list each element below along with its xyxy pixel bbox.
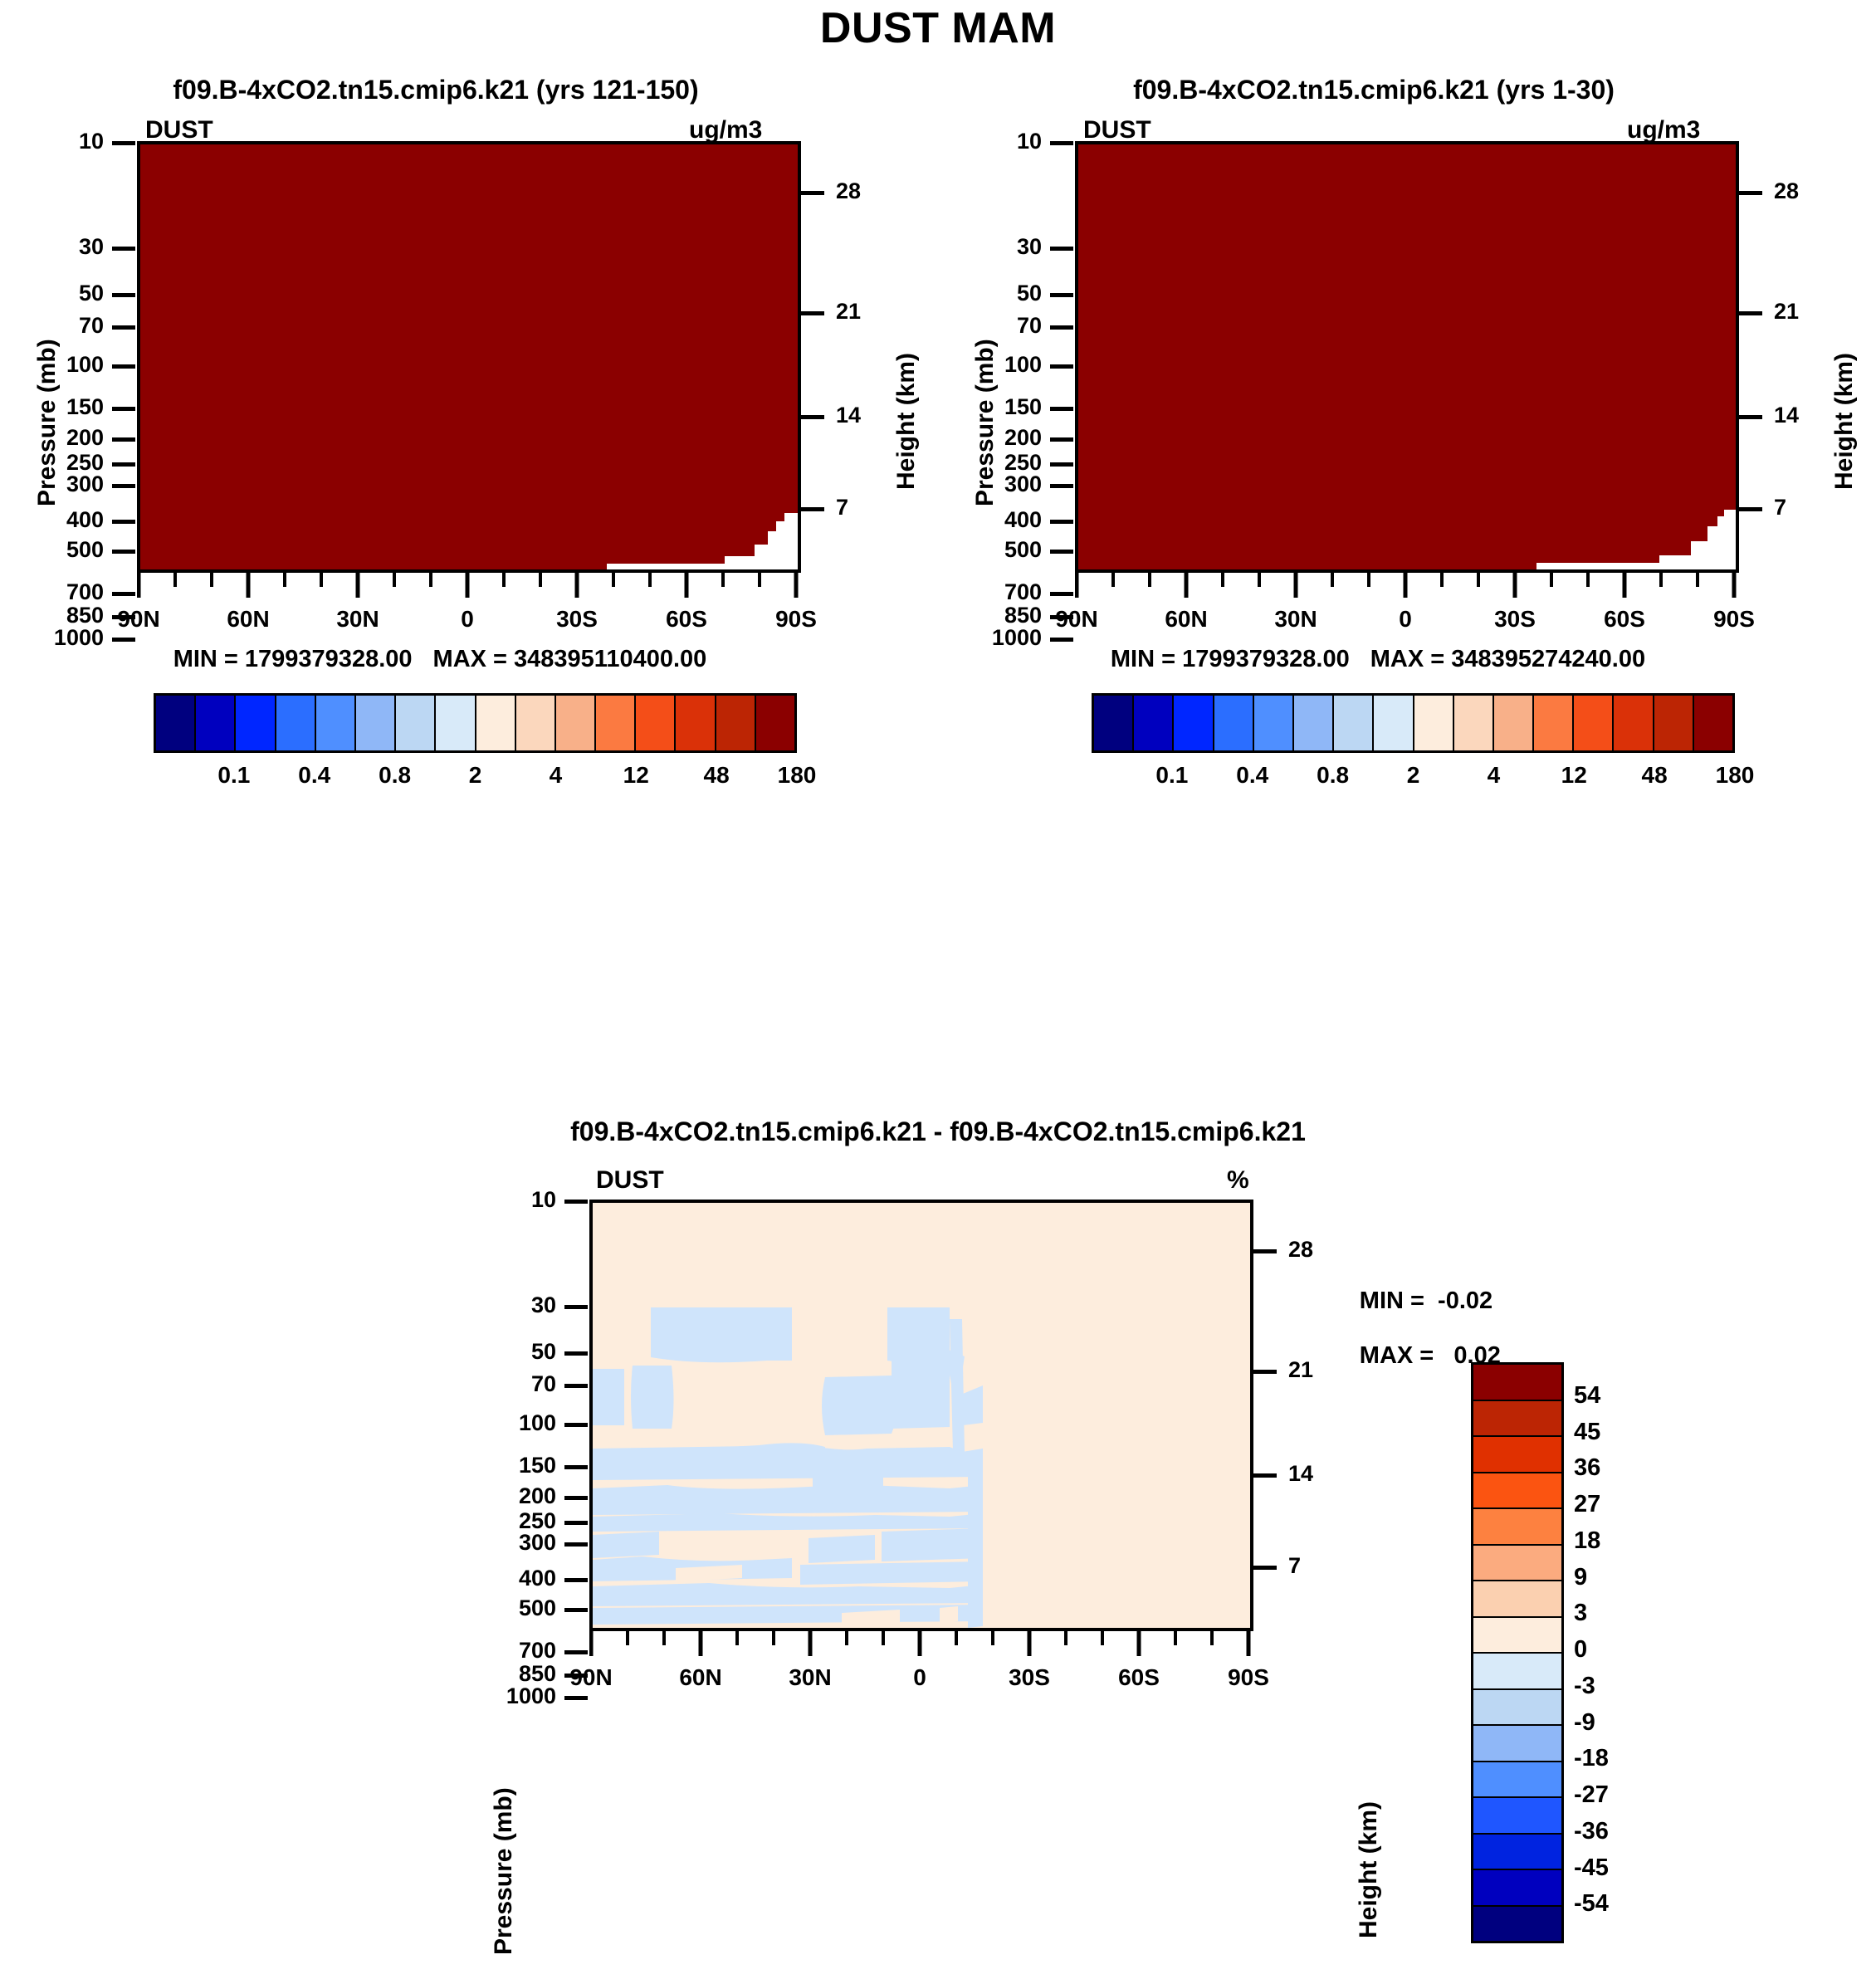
y2tick-label: 28 xyxy=(1774,178,1840,204)
panel-title-top-left: f09.B-4xCO2.tn15.cmip6.k21 (yrs 121-150) xyxy=(0,75,872,105)
colorbar-cell xyxy=(1473,1762,1561,1799)
colorbar-cell xyxy=(476,696,516,750)
ytick-label: 10 xyxy=(477,1187,556,1213)
colorbar-cell xyxy=(1534,696,1574,750)
colorbar-cell xyxy=(1473,1798,1561,1835)
plot-area-top-left[interactable] xyxy=(137,141,801,573)
colorbar-cell xyxy=(1473,1907,1561,1942)
colorbar-cell xyxy=(1473,1618,1561,1654)
y2tick-label: 14 xyxy=(1774,403,1840,428)
xtick-label: 30N xyxy=(752,1664,868,1691)
colorbar-cell xyxy=(1654,696,1694,750)
colorbar-top-right[interactable] xyxy=(1092,693,1735,753)
y2tick-label: 14 xyxy=(836,403,902,428)
colorbar-cell xyxy=(1473,1365,1561,1401)
y2tick-label: 28 xyxy=(1288,1237,1355,1263)
colorbar-cell xyxy=(1094,696,1134,750)
colorbar-cell xyxy=(676,696,716,750)
colorbar-cell xyxy=(316,696,356,750)
xtick-label: 90N xyxy=(533,1664,649,1691)
colorbar-cell xyxy=(1473,1473,1561,1510)
colorbar-cell xyxy=(1174,696,1214,750)
minmax-row-top-right: MIN = 1799379328.00 MAX = 348395274240.0… xyxy=(938,646,1818,673)
colorbar-cell xyxy=(1254,696,1294,750)
panel-top-left: f09.B-4xCO2.tn15.cmip6.k21 (yrs 121-150)… xyxy=(0,75,938,1096)
panel-title-bottom-diff: f09.B-4xCO2.tn15.cmip6.k21 - f09.B-4xCO2… xyxy=(0,1117,1876,1147)
ytick-label: 30 xyxy=(25,234,104,260)
ytick-label: 30 xyxy=(963,234,1042,260)
xtick-label: 60N xyxy=(190,606,306,633)
missing-data-notch xyxy=(1536,563,1736,569)
colorbar-tick-label: 36 xyxy=(1574,1454,1682,1482)
ytick-label: 200 xyxy=(963,425,1042,451)
colorbar-cell xyxy=(1473,1546,1561,1582)
colorbar-cell xyxy=(756,696,794,750)
colorbar-cell xyxy=(1473,1690,1561,1727)
min-label: MIN = 1799379328.00 xyxy=(1111,646,1350,672)
colorbar-tick-label: -54 xyxy=(1574,1890,1682,1918)
xtick-label: 60N xyxy=(642,1664,759,1691)
colorbar-cell xyxy=(1694,696,1732,750)
y2axis-title-bottom-diff: Height (km) xyxy=(1355,1801,1383,1938)
ytick-label: 70 xyxy=(477,1371,556,1397)
panel-variable-label-top-left: DUST xyxy=(145,116,213,144)
ytick-label: 700 xyxy=(25,579,104,605)
y2axis-ticks-top-left: 28 21 14 7 xyxy=(801,141,938,573)
colorbar-cell xyxy=(276,696,316,750)
ytick-label: 150 xyxy=(477,1453,556,1478)
xaxis-ticks-top-right xyxy=(1075,573,1747,601)
colorbar-tick-label: 3 xyxy=(1574,1600,1682,1627)
panel-top-right: f09.B-4xCO2.tn15.cmip6.k21 (yrs 1-30) DU… xyxy=(938,75,1876,1096)
yaxis-ticks-top-left: 10 30 50 70 100 150 200 250 300 400 500 … xyxy=(0,141,137,573)
colorbar-cell xyxy=(1473,1437,1561,1473)
colorbar-tick-label: -18 xyxy=(1574,1745,1682,1772)
ytick-label: 300 xyxy=(963,472,1042,497)
xtick-label: 60N xyxy=(1128,606,1244,633)
colorbar-top-left[interactable] xyxy=(154,693,797,753)
colorbar-cell xyxy=(1473,1870,1561,1907)
ytick-label: 150 xyxy=(963,394,1042,420)
colorbar-tick-label: 0.4 xyxy=(1211,762,1294,789)
plot-area-bottom-diff[interactable] xyxy=(589,1200,1253,1631)
colorbar-tick-label: 12 xyxy=(1532,762,1615,789)
colorbar-cell xyxy=(596,696,636,750)
yaxis-title-bottom-diff: Pressure (mb) xyxy=(490,1787,518,1955)
plot-area-top-right[interactable] xyxy=(1075,141,1739,573)
ytick-label: 50 xyxy=(477,1339,556,1365)
xtick-label: 0 xyxy=(862,1664,978,1691)
xtick-label: 90N xyxy=(1019,606,1135,633)
missing-data-notch xyxy=(607,564,798,569)
colorbar-cell xyxy=(1473,1726,1561,1762)
panel-variable-label-bottom-diff: DUST xyxy=(596,1166,664,1195)
max-label: MAX = 348395274240.00 xyxy=(1370,646,1645,672)
colorbar-tick-label: 0.1 xyxy=(1131,762,1214,789)
panel-units-label-top-right: ug/m3 xyxy=(1627,116,1700,144)
colorbar-cell xyxy=(1473,1835,1561,1871)
y2tick-label: 7 xyxy=(836,495,902,520)
colorbar-cell xyxy=(1374,696,1414,750)
xtick-label: 90S xyxy=(1190,1664,1307,1691)
colorbar-cell xyxy=(1574,696,1614,750)
y2axis-ticks-top-right: 28 21 14 7 xyxy=(1739,141,1876,573)
xtick-label: 30S xyxy=(1457,606,1573,633)
xaxis-ticks-bottom-diff xyxy=(589,1631,1262,1659)
panel-bottom-diff: f09.B-4xCO2.tn15.cmip6.k21 - f09.B-4xCO2… xyxy=(0,1117,1876,1979)
xtick-label: 60S xyxy=(628,606,745,633)
colorbar-cell xyxy=(156,696,196,750)
minmax-row-top-left: MIN = 1799379328.00 MAX = 348395110400.0… xyxy=(0,646,880,673)
colorbar-cell xyxy=(196,696,236,750)
colorbar-tick-label: 18 xyxy=(1574,1527,1682,1555)
ytick-label: 400 xyxy=(477,1566,556,1591)
colorbar-tick-label: 12 xyxy=(594,762,677,789)
colorbar-tick-label: 0.8 xyxy=(1292,762,1375,789)
y2tick-label: 21 xyxy=(836,299,902,325)
colorbar-cell xyxy=(1614,696,1654,750)
ytick-label: 400 xyxy=(963,507,1042,533)
xaxis-ticks-top-left xyxy=(137,573,809,601)
y2tick-label: 14 xyxy=(1288,1461,1355,1487)
y2tick-label: 7 xyxy=(1288,1553,1355,1579)
colorbar-cell xyxy=(1414,696,1454,750)
ytick-label: 10 xyxy=(25,129,104,154)
colorbar-tick-label: -9 xyxy=(1574,1709,1682,1737)
xtick-label: 90N xyxy=(81,606,197,633)
xtick-label: 30S xyxy=(971,1664,1087,1691)
ytick-label: 10 xyxy=(963,129,1042,154)
yaxis-ticks-bottom-diff: 10 30 50 70 100 150 200 250 300 400 500 … xyxy=(452,1200,589,1631)
ytick-label: 400 xyxy=(25,507,104,533)
yaxis-ticks-top-right: 10 30 50 70 100 150 200 250 300 400 500 … xyxy=(938,141,1075,573)
colorbar-tick-label: 54 xyxy=(1574,1382,1682,1410)
colorbar-cell xyxy=(636,696,676,750)
colorbar-tick-label: 180 xyxy=(1693,762,1776,789)
colorbar-tick-label: 9 xyxy=(1574,1564,1682,1591)
ytick-label: 70 xyxy=(25,313,104,339)
figure-main-title: DUST MAM xyxy=(0,3,1876,53)
ytick-label: 300 xyxy=(25,472,104,497)
colorbar-tick-label: 4 xyxy=(1452,762,1535,789)
ytick-label: 200 xyxy=(25,425,104,451)
panel-units-label-bottom-diff: % xyxy=(1227,1166,1249,1195)
max-label: MAX = 348395110400.00 xyxy=(433,646,707,672)
ytick-label: 50 xyxy=(963,281,1042,306)
colorbar-bottom-diff[interactable] xyxy=(1471,1362,1564,1943)
panel-title-top-right: f09.B-4xCO2.tn15.cmip6.k21 (yrs 1-30) xyxy=(938,75,1810,105)
colorbar-tick-label: -36 xyxy=(1574,1818,1682,1845)
ytick-label: 700 xyxy=(963,579,1042,605)
colorbar-tick-label: -45 xyxy=(1574,1854,1682,1882)
xtick-label: 90S xyxy=(738,606,854,633)
colorbar-labels-top-right: 0.10.40.8241248180 xyxy=(1092,762,1735,795)
y2tick-label: 7 xyxy=(1774,495,1840,520)
colorbar-tick-label: 27 xyxy=(1574,1491,1682,1518)
xtick-label: 30N xyxy=(300,606,416,633)
xtick-label: 60S xyxy=(1081,1664,1197,1691)
panel-variable-label-top-right: DUST xyxy=(1083,116,1151,144)
ytick-label: 70 xyxy=(963,313,1042,339)
colorbar-tick-label: 48 xyxy=(675,762,758,789)
colorbar-cell xyxy=(516,696,556,750)
colorbar-cell xyxy=(1494,696,1534,750)
colorbar-cell xyxy=(396,696,436,750)
xtick-label: 60S xyxy=(1566,606,1683,633)
colorbar-tick-label: 4 xyxy=(514,762,597,789)
colorbar-tick-label: -3 xyxy=(1574,1673,1682,1700)
ytick-label: 100 xyxy=(477,1410,556,1436)
dust-fill-region xyxy=(1078,144,1736,569)
colorbar-tick-label: 0 xyxy=(1574,1636,1682,1664)
colorbar-tick-label: 2 xyxy=(434,762,517,789)
min-label: MIN = -0.02 xyxy=(1360,1288,1492,1314)
dust-fill-region xyxy=(140,144,798,569)
colorbar-tick-label: 0.1 xyxy=(193,762,276,789)
colorbar-cell xyxy=(716,696,756,750)
colorbar-tick-label: 48 xyxy=(1613,762,1696,789)
colorbar-cell xyxy=(1214,696,1254,750)
difference-contour-field xyxy=(593,1203,1253,1631)
ytick-label: 500 xyxy=(963,537,1042,563)
colorbar-cell xyxy=(1473,1654,1561,1690)
ytick-label: 100 xyxy=(963,352,1042,378)
colorbar-cell xyxy=(1473,1581,1561,1618)
colorbar-tick-label: 2 xyxy=(1372,762,1455,789)
ytick-label: 200 xyxy=(477,1483,556,1509)
ytick-label: 50 xyxy=(25,281,104,306)
ytick-label: 30 xyxy=(477,1292,556,1318)
min-label: MIN = 1799379328.00 xyxy=(173,646,413,672)
ytick-label: 500 xyxy=(477,1595,556,1621)
colorbar-cell xyxy=(1294,696,1334,750)
colorbar-cell xyxy=(1334,696,1374,750)
colorbar-labels-top-left: 0.10.40.8241248180 xyxy=(154,762,797,795)
y2tick-label: 21 xyxy=(1774,299,1840,325)
y2tick-label: 28 xyxy=(836,178,902,204)
ytick-label: 700 xyxy=(477,1638,556,1664)
ytick-label: 100 xyxy=(25,352,104,378)
xtick-label: 30N xyxy=(1238,606,1354,633)
panel-units-label-top-left: ug/m3 xyxy=(689,116,762,144)
colorbar-tick-label: 180 xyxy=(755,762,838,789)
colorbar-tick-label: 45 xyxy=(1574,1419,1682,1446)
colorbar-cell xyxy=(1134,696,1174,750)
xtick-label: 30S xyxy=(519,606,635,633)
colorbar-tick-label: 0.8 xyxy=(354,762,437,789)
colorbar-cell xyxy=(1454,696,1494,750)
colorbar-cell xyxy=(236,696,276,750)
colorbar-cell xyxy=(1473,1509,1561,1546)
colorbar-tick-label: 0.4 xyxy=(273,762,356,789)
xtick-label: 0 xyxy=(1347,606,1463,633)
xtick-label: 90S xyxy=(1676,606,1792,633)
ytick-label: 150 xyxy=(25,394,104,420)
colorbar-cell xyxy=(556,696,596,750)
ytick-label: 500 xyxy=(25,537,104,563)
colorbar-cell xyxy=(1473,1401,1561,1438)
colorbar-labels-bottom-diff: 5445362718930-3-9-18-27-36-45-54 xyxy=(1574,1362,1690,1943)
colorbar-tick-label: -27 xyxy=(1574,1781,1682,1809)
ytick-label: 300 xyxy=(477,1530,556,1556)
y2axis-ticks-bottom-diff: 28 21 14 7 xyxy=(1253,1200,1390,1631)
colorbar-cell xyxy=(356,696,396,750)
xtick-label: 0 xyxy=(409,606,525,633)
colorbar-cell xyxy=(436,696,476,750)
